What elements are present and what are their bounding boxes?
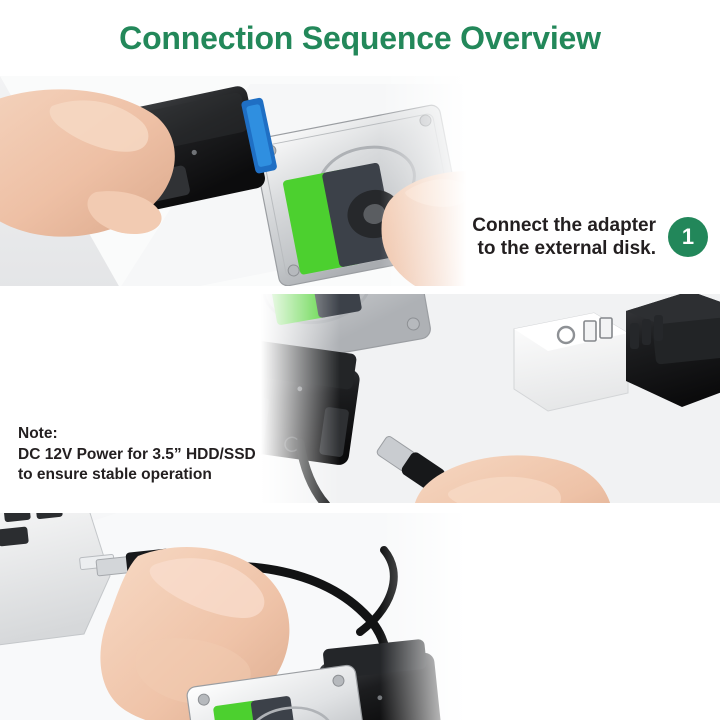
step-1-photo <box>0 76 500 288</box>
usb-to-laptop-illustration <box>0 512 500 720</box>
adapter-and-hdd-illustration <box>0 76 500 288</box>
page-title: Connection Sequence Overview <box>119 20 601 57</box>
step-1-caption: Connect the adapter to the external disk… <box>472 214 708 260</box>
power-note: Note: DC 12V Power for 3.5” HDD/SSD to e… <box>18 424 256 486</box>
power-supply-connection-illustration <box>230 293 720 505</box>
panel-separator-1 <box>0 286 720 294</box>
product-instruction-page: Connection Sequence Overview <box>0 0 720 720</box>
step-1-panel: Connect the adapter to the external disk… <box>0 76 720 288</box>
panel-separator-2 <box>0 503 720 513</box>
step-3-photo <box>0 512 500 720</box>
step-1-badge: 1 <box>668 217 708 257</box>
title-bar: Connection Sequence Overview <box>0 0 720 76</box>
step-1-text: Connect the adapter to the external disk… <box>472 214 656 260</box>
step-2-photo <box>230 293 720 505</box>
step-3-panel: Plug in the USB porton PC/laptop. 3 <box>0 512 720 720</box>
